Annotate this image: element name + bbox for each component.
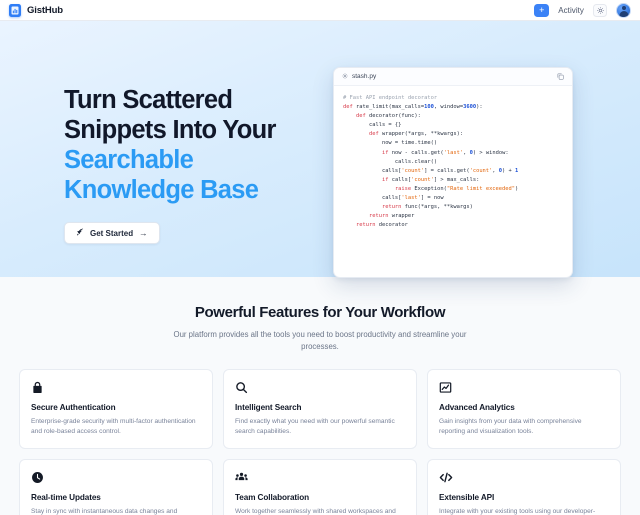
feature-card-title: Advanced Analytics — [439, 403, 609, 412]
feature-card[interactable]: Secure AuthenticationEnterprise-grade se… — [19, 369, 213, 449]
analytics-chart-icon — [439, 381, 609, 395]
feature-card-title: Secure Authentication — [31, 403, 201, 412]
arrow-right-icon: → — [139, 228, 148, 238]
brand-name: GistHub — [27, 5, 63, 16]
feature-card-description: Enterprise-grade security with multi-fac… — [31, 417, 201, 436]
topbar-actions: + Activity — [534, 3, 631, 18]
feature-card[interactable]: Extensible APIIntegrate with your existi… — [427, 459, 621, 515]
features-subheading: Our platform provides all the tools you … — [170, 329, 470, 352]
python-file-icon — [342, 73, 348, 81]
hero-text-block: Turn Scattered Snippets Into Your Search… — [22, 59, 310, 277]
get-started-label: Get Started — [90, 229, 133, 238]
feature-card[interactable]: Advanced AnalyticsGain insights from you… — [427, 369, 621, 449]
feature-card[interactable]: Real-time UpdatesStay in sync with insta… — [19, 459, 213, 515]
hero-title-line-1: Turn Scattered — [64, 86, 232, 114]
hero-section: Turn Scattered Snippets Into Your Search… — [0, 21, 640, 277]
brand[interactable]: GistHub — [9, 4, 63, 17]
code-block: # Fast API endpoint decorator def rate_l… — [334, 86, 572, 238]
feature-card[interactable]: Team CollaborationWork together seamless… — [223, 459, 417, 515]
code-preview-card: stash.py # Fast API endpoint decorator d… — [333, 67, 573, 278]
rocket-icon — [76, 228, 84, 238]
avatar[interactable] — [616, 3, 631, 18]
feature-card-description: Work together seamlessly with shared wor… — [235, 507, 405, 515]
feature-card-title: Real-time Updates — [31, 493, 201, 502]
users-icon — [235, 471, 405, 485]
feature-card-grid: Secure AuthenticationEnterprise-grade se… — [0, 369, 640, 515]
feature-card[interactable]: Intelligent SearchFind exactly what you … — [223, 369, 417, 449]
features-heading: Powerful Features for Your Workflow — [0, 304, 640, 321]
sun-icon[interactable] — [593, 4, 607, 17]
copy-icon[interactable] — [557, 73, 564, 80]
activity-link[interactable]: Activity — [558, 6, 584, 15]
hero-title-line-3: Searchable — [64, 145, 310, 175]
feature-card-title: Intelligent Search — [235, 403, 405, 412]
new-gist-button[interactable]: + — [534, 4, 549, 17]
hero-title-line-2: Snippets Into Your — [64, 116, 276, 144]
code-brackets-icon — [439, 471, 609, 485]
clock-icon — [31, 471, 201, 485]
features-section: Powerful Features for Your Workflow Our … — [0, 277, 640, 515]
feature-card-title: Extensible API — [439, 493, 609, 502]
code-card-header: stash.py — [334, 68, 572, 86]
get-started-button[interactable]: Get Started → — [64, 222, 160, 244]
top-navigation-bar: GistHub + Activity — [0, 0, 640, 21]
code-filename: stash.py — [352, 73, 376, 80]
feature-card-description: Find exactly what you need with our powe… — [235, 417, 405, 436]
hero-title-line-4: Knowledge Base — [64, 175, 310, 205]
feature-card-description: Gain insights from your data with compre… — [439, 417, 609, 436]
lock-icon — [31, 381, 201, 395]
feature-card-title: Team Collaboration — [235, 493, 405, 502]
feature-card-description: Stay in sync with instantaneous data cha… — [31, 507, 201, 515]
feature-card-description: Integrate with your existing tools using… — [439, 507, 609, 515]
code-file-info: stash.py — [342, 73, 376, 81]
page-title: Turn Scattered Snippets Into Your Search… — [64, 85, 310, 205]
gist-logo-icon — [9, 4, 21, 17]
search-icon — [235, 381, 405, 395]
